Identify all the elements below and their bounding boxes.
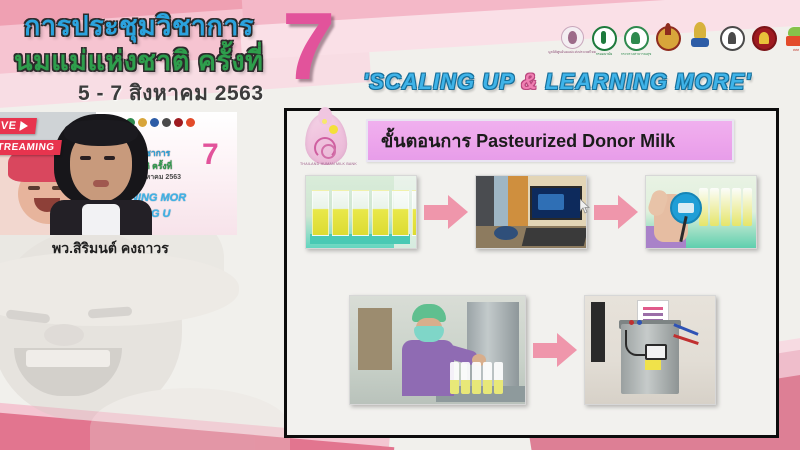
speaker-video-figure (46, 112, 156, 235)
tagline-part-1: 'SCALING UP (363, 69, 521, 94)
live-label: LIVE (0, 120, 17, 132)
tagline-ampersand: & (521, 69, 538, 94)
process-step-row-top (305, 175, 757, 249)
slide-title-box: ขั้นตอนการ Pasteurized Donor Milk (366, 119, 734, 162)
process-step-row-bottom (349, 295, 716, 405)
human-milk-bank-drop-logo: THAILAND HUMAN MILK BANK (295, 113, 357, 175)
mouse-pointer (580, 199, 591, 214)
presentation-screen: การประชุมวิชาการ นมแม่แห่งชาติ ครั้งที่ … (0, 0, 800, 450)
photo-laptop-workstation (475, 175, 587, 249)
photo-nurse-handling-bottles (349, 295, 526, 405)
royal-emblem-logo (688, 26, 712, 56)
conference-date: 5 - 7 สิงหาคม 2563 (78, 77, 264, 110)
conference-edition-number: 7 (282, 0, 335, 102)
slide-title-text: ขั้นตอนการ Pasteurized Donor Milk (368, 126, 675, 155)
nursing-council-logo (720, 26, 744, 56)
slide-header: THAILAND HUMAN MILK BANK ขั้นตอนการ Past… (287, 111, 776, 169)
tagline-part-2: LEARNING MORE' (538, 69, 751, 94)
ministry-of-public-health-logo: กรมอนามัย (592, 26, 616, 56)
arrow-icon-step1-to-step2 (424, 195, 468, 229)
arrow-icon-step4-to-step5 (533, 333, 577, 367)
photo-hand-digital-timer (645, 175, 757, 249)
conference-title-line2: นมแม่แห่งชาติ ครั้งที่ (14, 39, 263, 82)
photo-pasteurizer-machine (584, 295, 716, 405)
photo-milk-bottle-racks (305, 175, 417, 249)
drop-logo-caption: THAILAND HUMAN MILK BANK (300, 162, 354, 166)
thai-breastfeeding-foundation-logo: มูลนิธิศูนย์นมแม่แห่งประเทศไทย (560, 26, 584, 56)
play-icon (20, 121, 29, 131)
streaming-badge: STREAMING (0, 140, 61, 155)
conference-tagline: 'SCALING UP & LEARNING MORE' (363, 69, 751, 95)
arrow-icon-step2-to-step3 (594, 195, 638, 229)
thaihealth-sss-logo: สสส (784, 26, 800, 56)
pediatric-society-logo (752, 26, 776, 56)
royal-college-logo (656, 26, 680, 56)
live-badge: LIVE (0, 118, 37, 134)
poster-edition-number: 7 (202, 140, 219, 170)
speaker-name: พว.สิริมนต์ คงถาวร (52, 238, 169, 260)
slide-panel: THAILAND HUMAN MILK BANK ขั้นตอนการ Past… (284, 108, 779, 438)
department-of-health-logo: กระทรวงสาธารณสุข (624, 26, 648, 56)
sponsor-logo-strip: มูลนิธิศูนย์นมแม่แห่งประเทศไทย กรมอนามัย… (560, 26, 800, 56)
